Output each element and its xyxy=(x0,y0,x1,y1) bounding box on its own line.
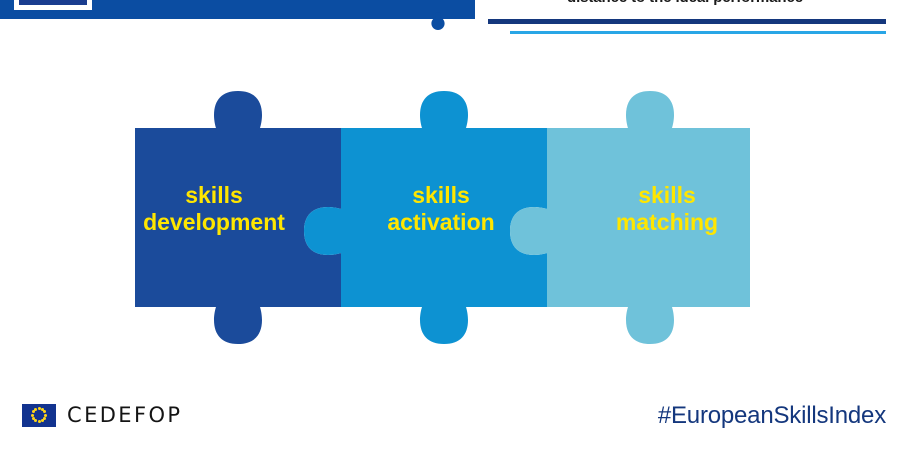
header-band xyxy=(0,0,475,19)
eu-star xyxy=(41,419,44,422)
eu-flag-icon xyxy=(22,404,56,427)
headline-rule-light xyxy=(510,31,886,34)
header-logo-inner xyxy=(17,0,89,7)
headline-rule-dark xyxy=(488,19,886,24)
eu-star xyxy=(32,417,35,420)
headline-clip: distance to the ideal performance xyxy=(480,0,890,11)
puzzle-piece-label-line1: skills xyxy=(412,182,470,208)
eu-star xyxy=(43,410,46,413)
puzzle-piece-label-line1: skills xyxy=(185,182,243,208)
skills-puzzle-diagram: skills development skills activation ski… xyxy=(0,70,900,360)
header-logo-plate xyxy=(14,0,92,10)
eu-star xyxy=(34,419,37,422)
hashtag-label: #EuropeanSkillsIndex xyxy=(658,402,886,430)
puzzle-piece-label-line2: matching xyxy=(616,209,718,235)
puzzle-piece-label-line1: skills xyxy=(638,182,696,208)
cedefop-logo: CEDEFOP xyxy=(22,403,182,427)
puzzle-piece-label-line2: development xyxy=(143,209,285,235)
eu-star xyxy=(38,420,41,423)
map-pin-icon xyxy=(429,12,447,36)
headline-text: distance to the ideal performance xyxy=(480,0,890,6)
eu-star xyxy=(34,408,37,411)
eu-star xyxy=(31,414,34,417)
cedefop-wordmark: CEDEFOP xyxy=(67,405,182,426)
puzzle-piece-label-line2: activation xyxy=(387,209,494,235)
